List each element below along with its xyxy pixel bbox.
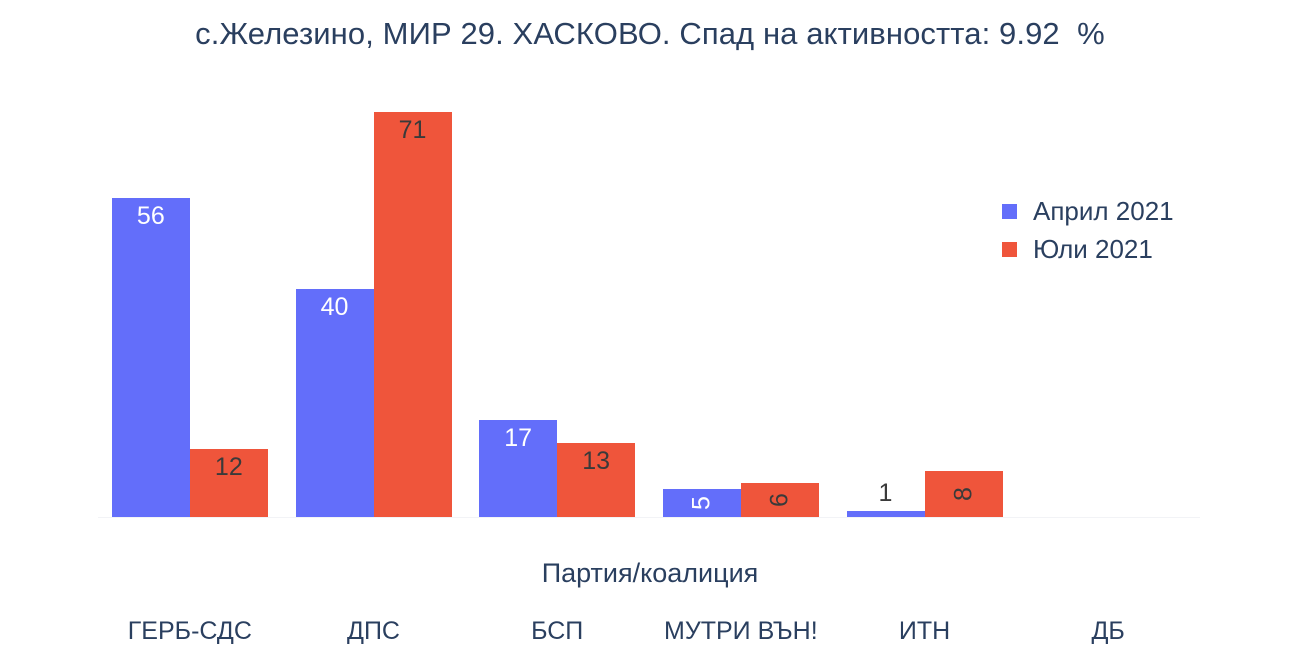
plot-area: 0102030405060705612ГЕРБ-СДС4071ДПС1713БС… bbox=[98, 95, 1200, 517]
bar[interactable]: 56 bbox=[112, 198, 190, 517]
legend-label: Юли 2021 bbox=[1033, 234, 1153, 265]
legend-swatch-icon bbox=[1002, 242, 1017, 257]
bar-value-label: 56 bbox=[112, 204, 190, 229]
legend-label: Април 2021 bbox=[1033, 196, 1174, 227]
x-axis-tick-label: ГЕРБ-СДС bbox=[128, 617, 252, 646]
bar-value-label: 71 bbox=[374, 118, 452, 143]
legend-item[interactable]: Юли 2021 bbox=[1002, 230, 1174, 268]
legend-swatch-icon bbox=[1002, 204, 1017, 219]
bar[interactable]: 1 bbox=[847, 511, 925, 517]
bar[interactable]: 6 bbox=[741, 483, 819, 517]
x-axis-tick-label: ДБ bbox=[1091, 617, 1124, 646]
x-axis-tick-label: БСП bbox=[531, 617, 583, 646]
x-axis-tick-label: МУТРИ ВЪН! bbox=[664, 617, 818, 646]
bar[interactable]: 8 bbox=[925, 471, 1003, 517]
bar-value-label: 12 bbox=[190, 455, 268, 480]
zero-baseline bbox=[98, 517, 1200, 518]
bar[interactable]: 40 bbox=[296, 289, 374, 517]
bar-chart: с.Железино, МИР 29. ХАСКОВО. Спад на акт… bbox=[0, 0, 1300, 600]
bar-value-label: 1 bbox=[847, 481, 925, 506]
bar-value-label: 40 bbox=[296, 295, 374, 320]
bar[interactable]: 17 bbox=[479, 420, 557, 517]
chart-title: с.Железино, МИР 29. ХАСКОВО. Спад на акт… bbox=[0, 16, 1300, 52]
chart-legend: Април 2021Юли 2021 bbox=[1002, 192, 1174, 268]
bar[interactable]: 71 bbox=[374, 112, 452, 517]
x-axis-title: Партия/коалиция bbox=[0, 558, 1300, 589]
bar[interactable]: 12 bbox=[190, 449, 268, 517]
bar-value-label: 17 bbox=[479, 426, 557, 451]
x-axis-tick-label: ИТН bbox=[899, 617, 950, 646]
bar-value-label: 8 bbox=[951, 487, 976, 501]
bar-value-label: 13 bbox=[557, 449, 635, 474]
x-axis-tick-label: ДПС bbox=[347, 617, 400, 646]
bar-value-label: 6 bbox=[767, 493, 792, 507]
bar[interactable]: 5 bbox=[663, 489, 741, 518]
legend-item[interactable]: Април 2021 bbox=[1002, 192, 1174, 230]
bar-value-label: 5 bbox=[689, 496, 714, 510]
bar[interactable]: 13 bbox=[557, 443, 635, 517]
